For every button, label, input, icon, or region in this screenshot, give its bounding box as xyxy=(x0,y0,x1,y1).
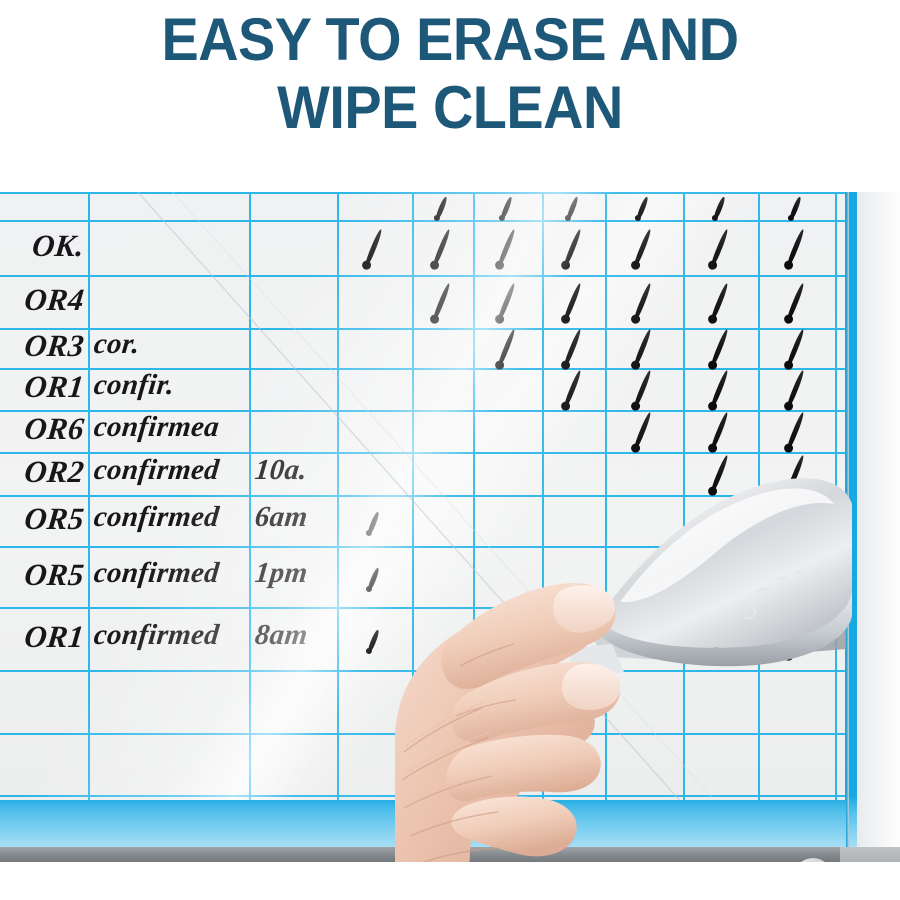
cell-status: confirmed xyxy=(92,619,221,652)
grid-row-line xyxy=(0,275,845,277)
grid-column-line xyxy=(473,192,475,800)
cell-room: OR5 xyxy=(0,501,86,537)
grid-column-line xyxy=(412,192,414,800)
cell-room: OK. xyxy=(0,228,86,264)
grid-row-line xyxy=(0,192,845,194)
cell-room: OR2 xyxy=(0,454,86,490)
cell-time: 10a. xyxy=(253,454,308,487)
grid-column-line xyxy=(542,192,544,800)
grid-row-line xyxy=(0,670,845,672)
cell-time: 8am xyxy=(253,619,309,652)
cell-status: confir. xyxy=(92,369,176,402)
cell-room: OR5 xyxy=(0,557,86,593)
cell-time: 6am xyxy=(253,501,309,534)
grid-column-line xyxy=(605,192,607,800)
whiteboard-assembly: OK.OR4OR3cor.OR1confir.OR6confirmeaOR2co… xyxy=(0,192,900,900)
cell-room: OR3 xyxy=(0,328,86,364)
grid-row-line xyxy=(0,546,845,548)
cell-room: OR4 xyxy=(0,282,86,318)
cell-room: OR1 xyxy=(0,619,86,655)
bottom-white-margin xyxy=(0,862,900,900)
whiteboard-grid xyxy=(0,192,845,800)
grid-row-line xyxy=(0,795,845,797)
grid-column-line xyxy=(249,192,251,800)
grid-row-line xyxy=(0,607,845,609)
grid-row-line xyxy=(0,220,845,222)
cell-status: cor. xyxy=(92,328,141,361)
cell-status: confirmea xyxy=(92,411,221,444)
cell-room: OR6 xyxy=(0,411,86,447)
grid-row-line xyxy=(0,733,845,735)
cell-room: OR1 xyxy=(0,369,86,405)
cell-time: 1pm xyxy=(253,557,309,590)
cell-status: confirmed xyxy=(92,501,221,534)
page-title-line-2: WIPE CLEAN xyxy=(32,74,869,142)
board-frame-edge xyxy=(846,192,849,848)
grid-column-line xyxy=(835,192,837,800)
page-title-line-1: EASY TO ERASE AND xyxy=(32,6,869,74)
grid-column-line xyxy=(758,192,760,800)
grid-column-line xyxy=(88,192,90,800)
grid-column-line xyxy=(683,192,685,800)
board-frame-gloss xyxy=(0,796,857,848)
whiteboard-surface[interactable]: OK.OR4OR3cor.OR1confir.OR6confirmeaOR2co… xyxy=(0,192,845,800)
page-title: EASY TO ERASE AND WIPE CLEAN xyxy=(32,6,869,142)
cell-status: confirmed xyxy=(92,557,221,590)
grid-column-line xyxy=(337,192,339,800)
cell-status: confirmed xyxy=(92,454,221,487)
grid-row-line xyxy=(0,495,845,497)
